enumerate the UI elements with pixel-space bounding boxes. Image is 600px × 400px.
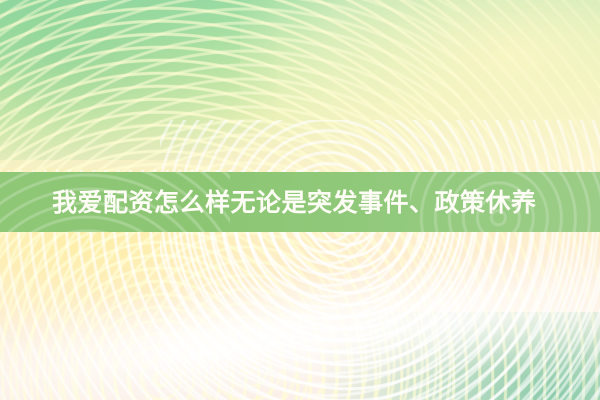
background-tint-bottom-right [324,312,600,400]
background-tint-top-left [0,0,276,160]
title-band: 我爱配资怎么样无论是突发事件、政策休养 [0,172,600,232]
background-tint-top-right [240,0,600,168]
wave-swoosh-icon [0,229,600,400]
arc-lines-bottom-right-icon [160,120,600,400]
banner-image: 我爱配资怎么样无论是突发事件、政策休养 [0,0,600,400]
banner-title: 我爱配资怎么样无论是突发事件、政策休养 [52,190,537,215]
